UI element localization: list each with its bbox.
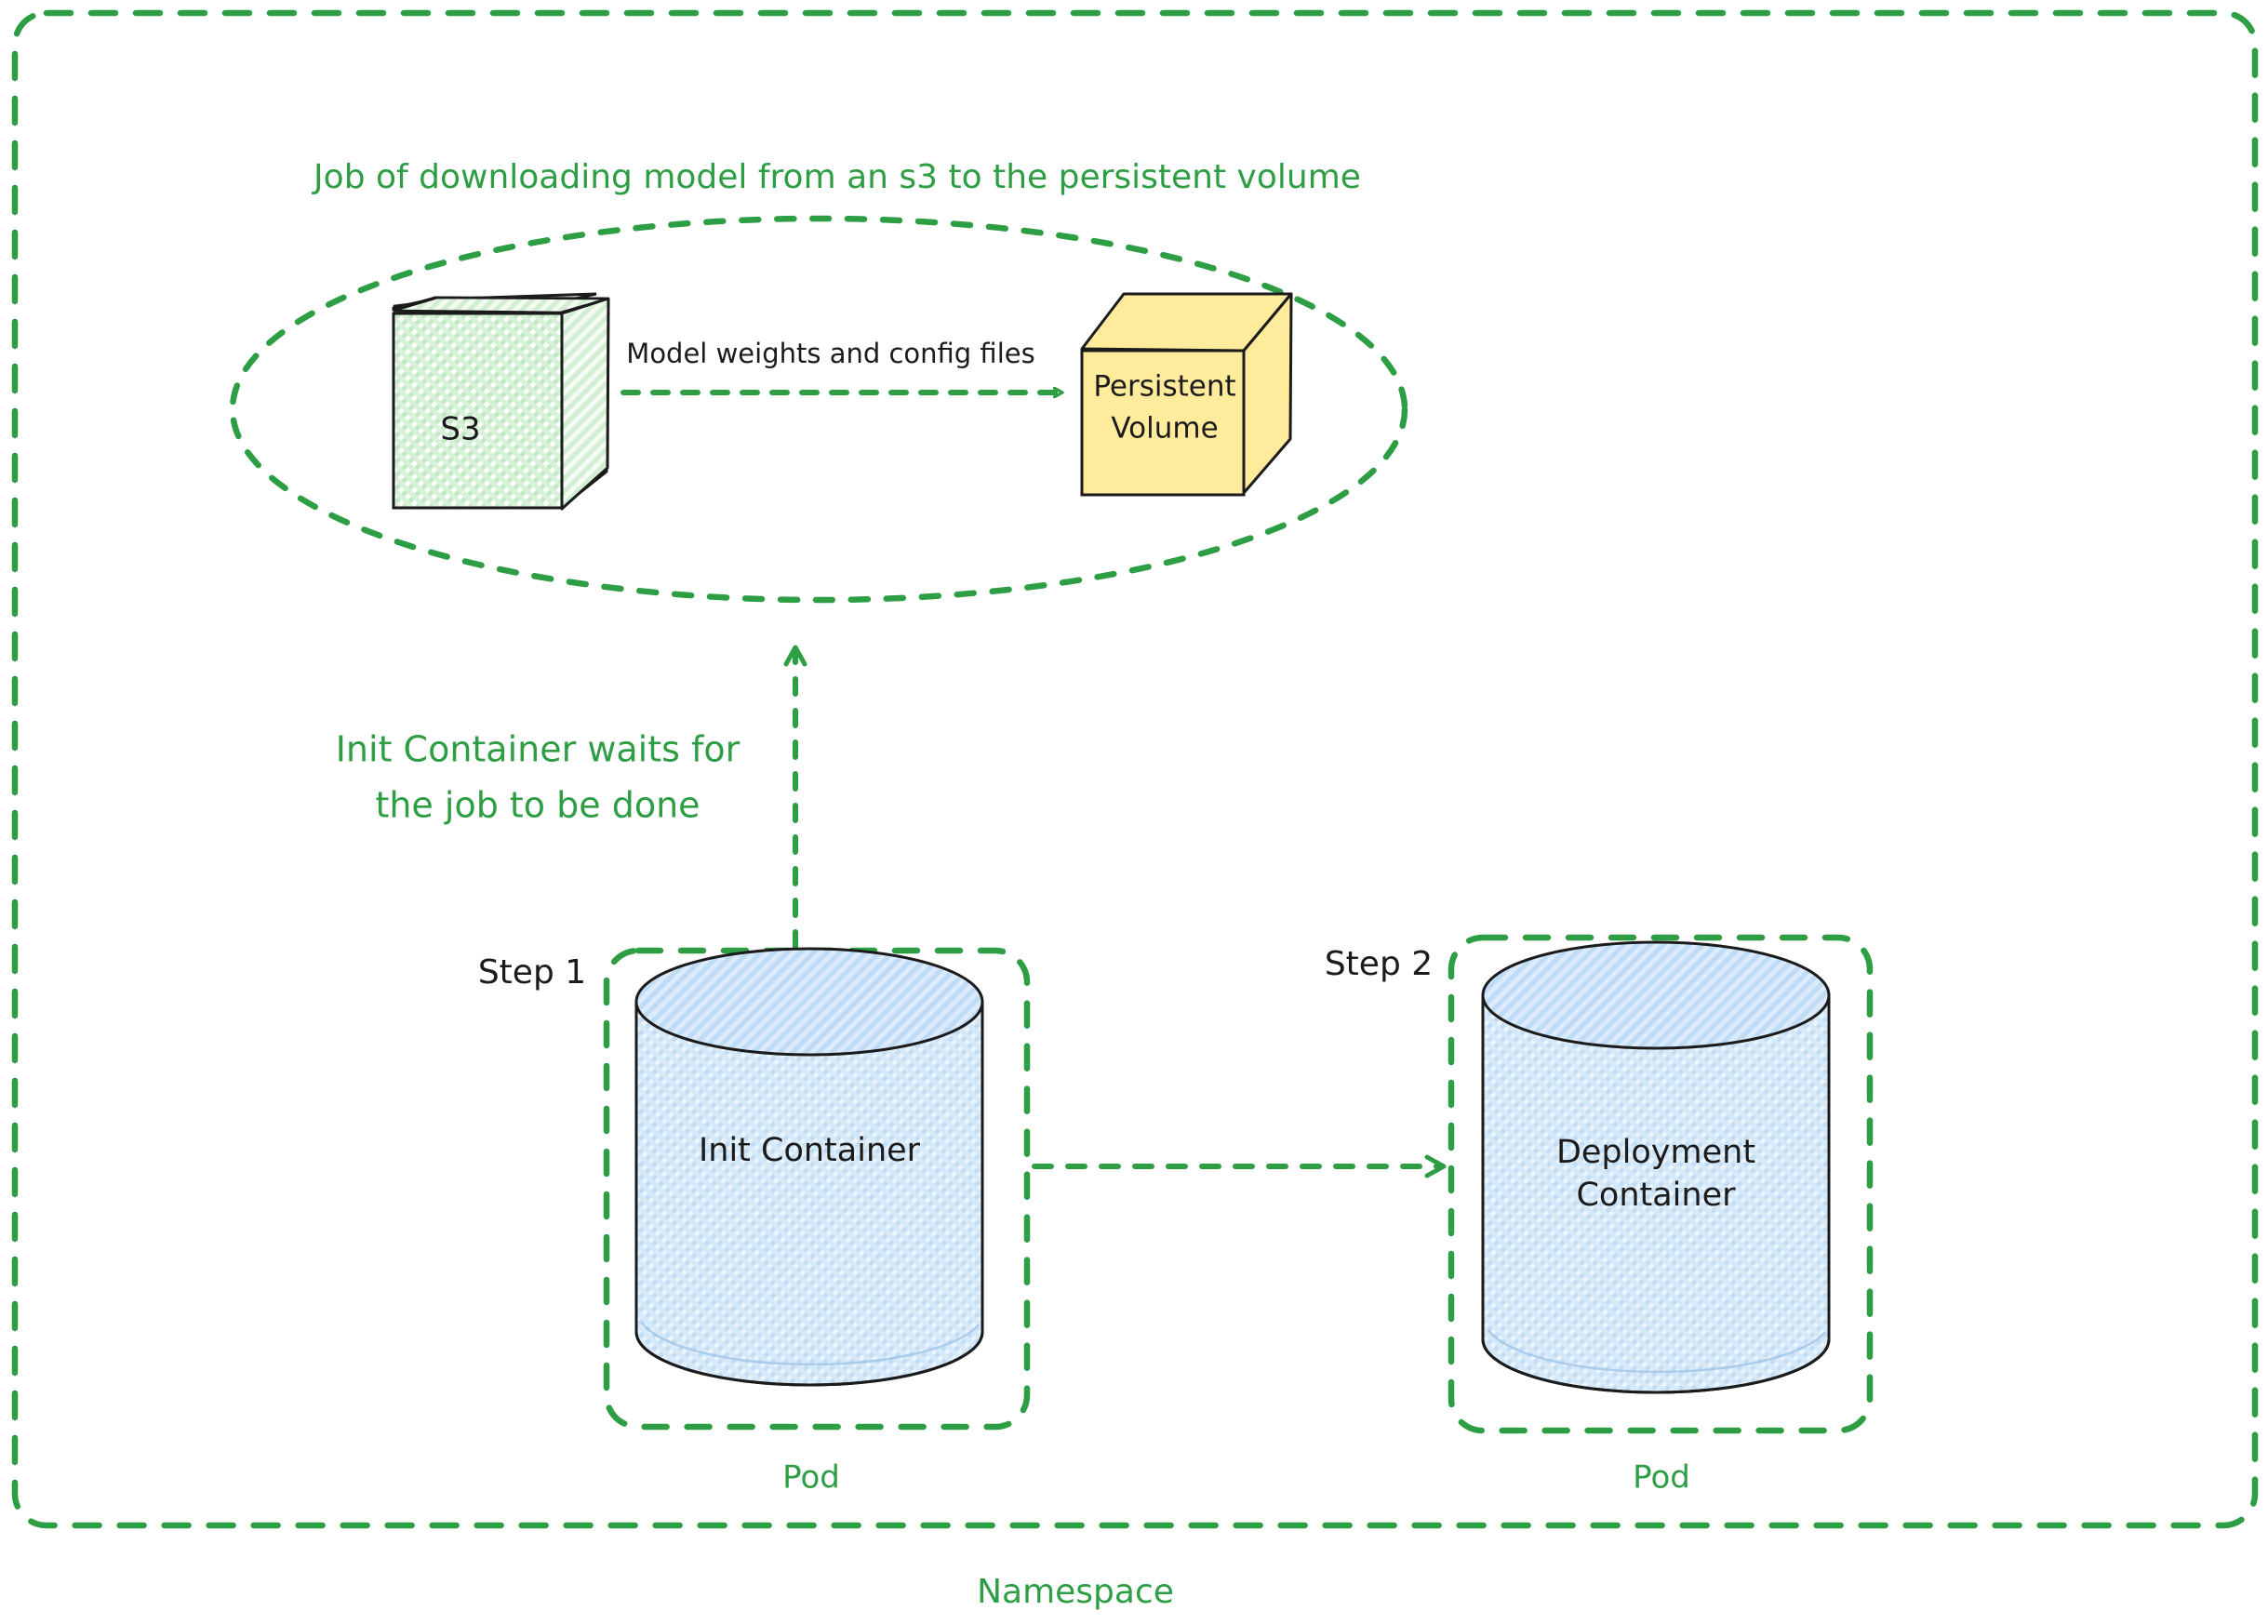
transfer-arrow-label: Model weights and config files [626,338,1034,369]
namespace-label: Namespace [977,1573,1174,1611]
pod-1-label: Pod [782,1459,840,1497]
pod-1: Init Container Step 1 Pod [478,949,1027,1497]
s3-cube-label: S3 [440,411,480,448]
diagram-svg: S3 Persistent Volume Model weights and c… [0,0,2268,1624]
pod-2-label: Pod [1633,1459,1690,1497]
persistent-volume-label-line2: Volume [1111,412,1218,446]
diagram-canvas: S3 Persistent Volume Model weights and c… [0,0,2268,1624]
wait-arrow-label-line2: the job to be done [375,785,700,826]
init-container-label: Init Container [699,1132,921,1169]
persistent-volume-label-line1: Persistent [1093,370,1235,404]
s3-cube: S3 [393,294,608,509]
persistent-volume-cube: Persistent Volume [1082,294,1291,495]
job-caption: Job of downloading model from an s3 to t… [312,158,1361,196]
wait-arrow-label-line1: Init Container waits for [336,729,740,770]
deployment-container-label-line1: Deployment [1556,1134,1755,1171]
step-1-label: Step 1 [478,953,586,992]
pod-2: Deployment Container Step 2 Pod [1325,938,1870,1497]
step-2-label: Step 2 [1325,945,1433,983]
deployment-container-label-line2: Container [1576,1177,1736,1214]
